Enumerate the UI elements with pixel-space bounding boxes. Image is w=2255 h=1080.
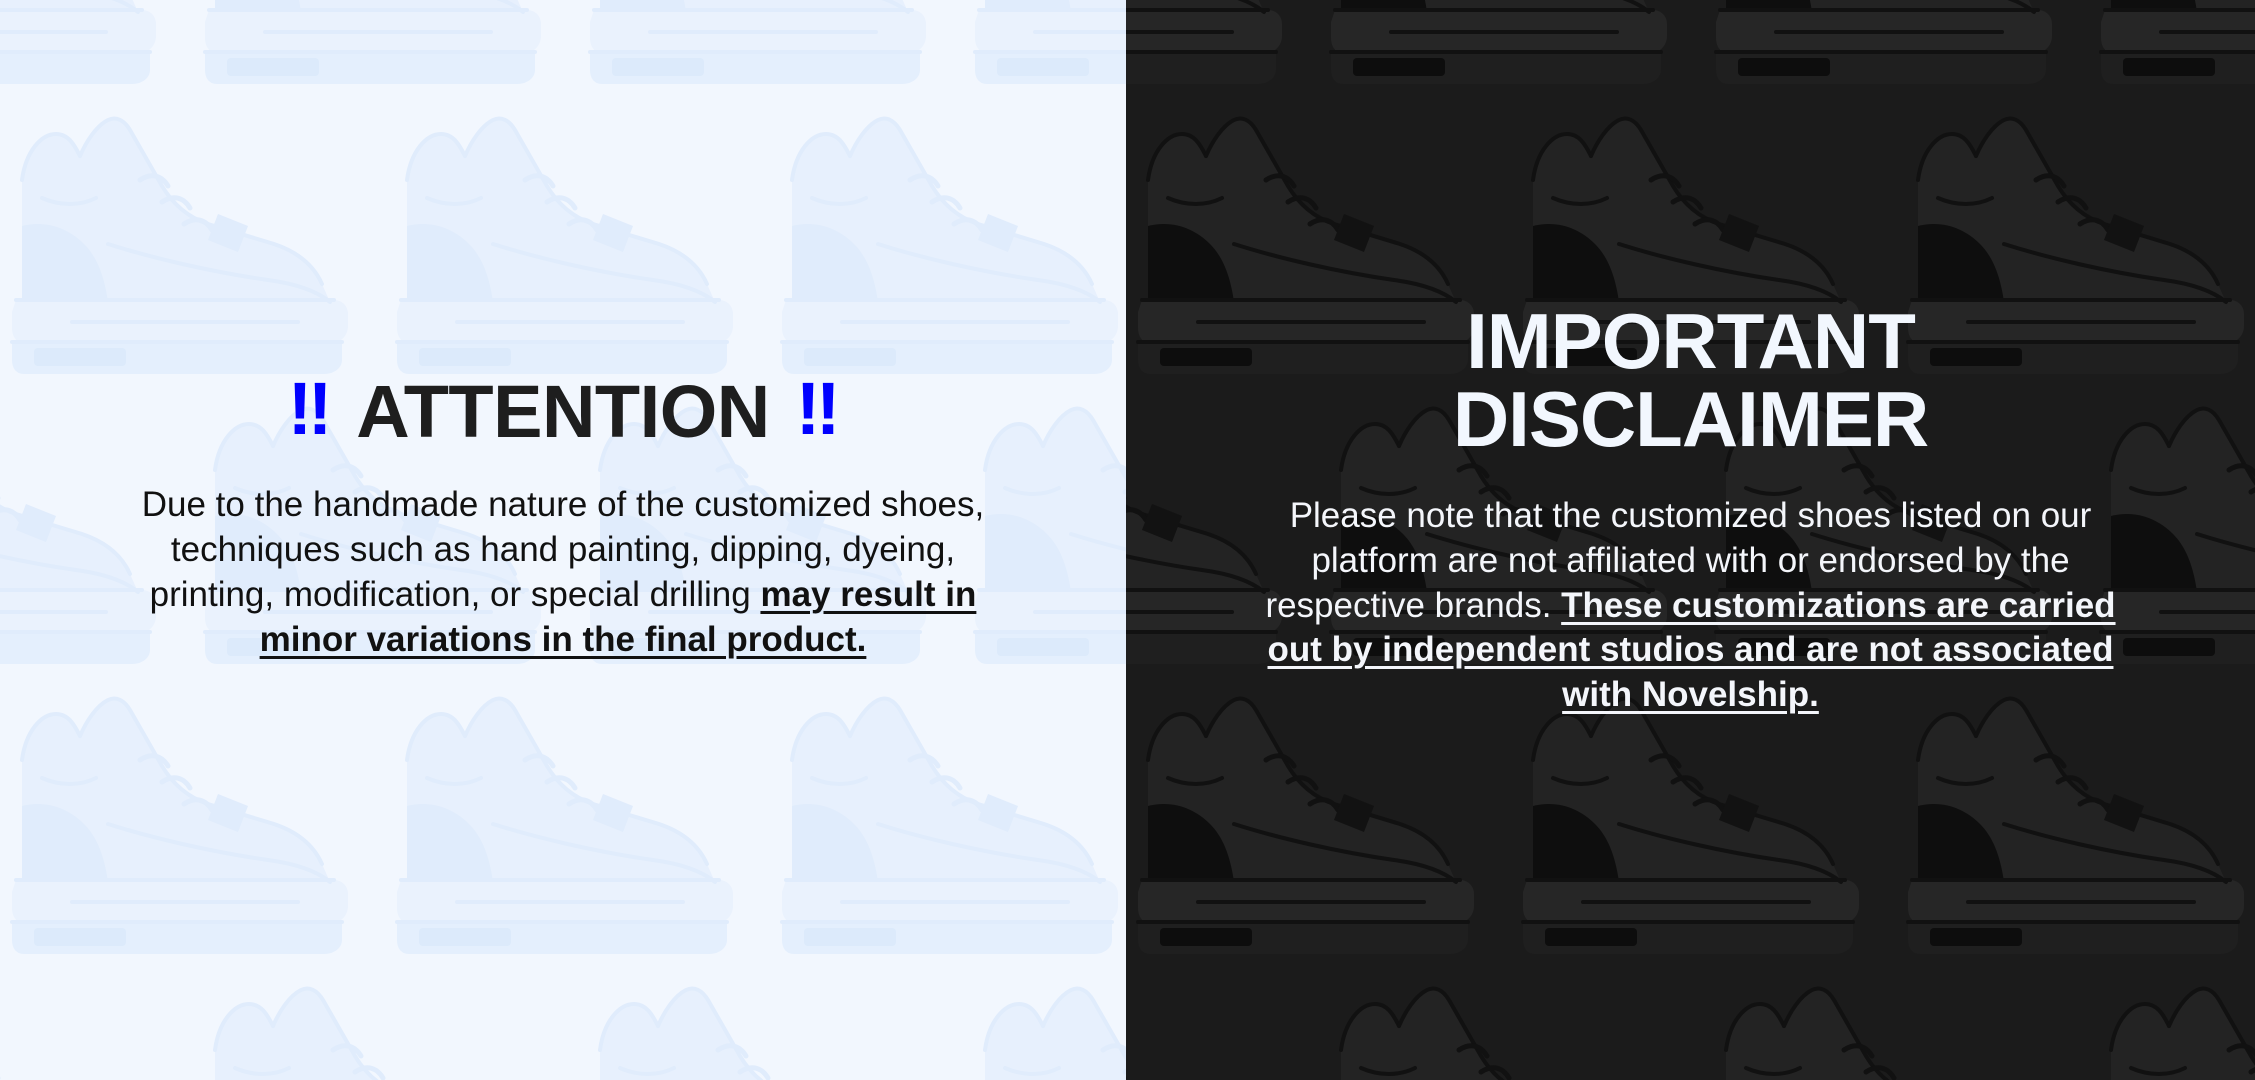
disclaimer-body: Please note that the customized shoes li…: [1246, 494, 2135, 718]
double-exclamation-left-icon: ‼: [288, 372, 331, 446]
attention-heading: ‼ ATTENTION ‼: [140, 374, 986, 449]
attention-disclaimer-banner: ‼ ATTENTION ‼ Due to the handmade nature…: [0, 0, 2255, 1080]
attention-body: Due to the handmade nature of the custom…: [140, 483, 986, 662]
attention-panel: ‼ ATTENTION ‼ Due to the handmade nature…: [0, 0, 1126, 1080]
disclaimer-content: IMPORTANT DISCLAIMER Please note that th…: [1126, 302, 2255, 718]
double-exclamation-right-icon: ‼: [796, 372, 839, 446]
disclaimer-panel: IMPORTANT DISCLAIMER Please note that th…: [1126, 0, 2255, 1080]
attention-heading-text: ATTENTION: [356, 374, 769, 449]
disclaimer-heading-line1: IMPORTANT: [1466, 297, 1915, 385]
disclaimer-heading: IMPORTANT DISCLAIMER: [1246, 302, 2135, 458]
attention-content: ‼ ATTENTION ‼ Due to the handmade nature…: [0, 374, 1126, 663]
disclaimer-heading-line2: DISCLAIMER: [1453, 375, 1928, 463]
